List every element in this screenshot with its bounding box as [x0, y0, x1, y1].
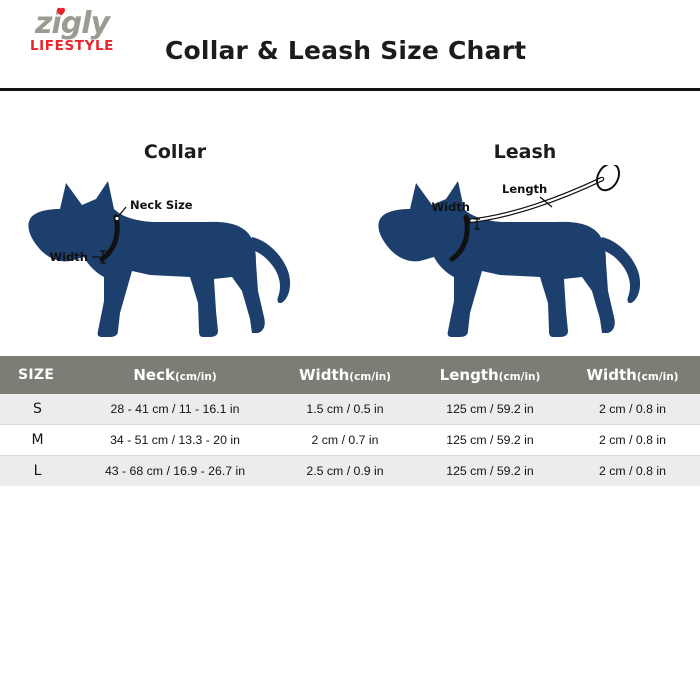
cell-leash-width: 2 cm / 0.8 in [565, 433, 700, 447]
brand-logo[interactable]: zigly LIFESTYLE [17, 8, 127, 54]
size-chart-table: SIZE Neck(cm/in) Width(cm/in) Length(cm/… [0, 356, 700, 486]
diagram-section: Collar Neck Size Width L [0, 91, 700, 356]
cell-neck: 43 - 68 cm / 16.9 - 26.7 in [75, 464, 275, 478]
cell-leash-length: 125 cm / 59.2 in [415, 464, 565, 478]
collar-diagram-panel: Collar Neck Size Width [0, 91, 350, 356]
column-header-size: SIZE [0, 367, 75, 383]
neck-size-anchor-dot [115, 216, 119, 220]
cell-collar-width: 1.5 cm / 0.5 in [275, 402, 415, 416]
cell-size: L [0, 463, 75, 479]
cell-leash-width: 2 cm / 0.8 in [565, 402, 700, 416]
column-header-leash-width-unit: (cm/in) [637, 371, 679, 383]
column-header-neck-unit: (cm/in) [175, 371, 217, 383]
cell-size: S [0, 401, 75, 417]
cell-neck: 34 - 51 cm / 13.3 - 20 in [75, 433, 275, 447]
collar-heading: Collar [0, 141, 350, 163]
collar-dog-illustration: Neck Size Width [0, 165, 350, 355]
cell-leash-width: 2 cm / 0.8 in [565, 464, 700, 478]
table-row: M 34 - 51 cm / 13.3 - 20 in 2 cm / 0.7 i… [0, 425, 700, 455]
neck-size-label: Neck Size [130, 198, 193, 212]
column-header-collar-width: Width(cm/in) [275, 366, 415, 384]
leash-dog-illustration: Width Length [350, 165, 700, 355]
column-header-neck: Neck(cm/in) [75, 366, 275, 384]
column-header-leash-width: Width(cm/in) [565, 366, 700, 384]
leash-handle-loop-icon [593, 165, 624, 194]
brand-name: zigly [17, 8, 127, 40]
heart-icon [55, 5, 67, 17]
leash-diagram-panel: Leash Width Length [350, 91, 700, 356]
cell-leash-length: 125 cm / 59.2 in [415, 402, 565, 416]
leash-clip-anchor-dot [465, 218, 470, 223]
collar-width-label: Width [49, 250, 88, 264]
column-header-leash-length-unit: (cm/in) [499, 371, 541, 383]
column-header-leash-length-label: Length [440, 366, 499, 384]
dog-silhouette-icon [378, 181, 640, 337]
leash-heading: Leash [350, 141, 700, 163]
table-row: L 43 - 68 cm / 16.9 - 26.7 in 2.5 cm / 0… [0, 456, 700, 486]
column-header-neck-label: Neck [133, 366, 175, 384]
leash-width-label: Width [431, 200, 470, 214]
page-header: zigly LIFESTYLE Collar & Leash Size Char… [0, 0, 700, 88]
cell-collar-width: 2 cm / 0.7 in [275, 433, 415, 447]
page-title: Collar & Leash Size Chart [165, 36, 526, 65]
column-header-leash-width-label: Width [587, 366, 637, 384]
table-header-row: SIZE Neck(cm/in) Width(cm/in) Length(cm/… [0, 356, 700, 394]
column-header-size-label: SIZE [18, 367, 54, 383]
leash-length-label: Length [502, 182, 547, 196]
cell-leash-length: 125 cm / 59.2 in [415, 433, 565, 447]
column-header-collar-width-unit: (cm/in) [349, 371, 391, 383]
cell-size: M [0, 432, 75, 448]
cell-collar-width: 2.5 cm / 0.9 in [275, 464, 415, 478]
column-header-collar-width-label: Width [299, 366, 349, 384]
cell-neck: 28 - 41 cm / 11 - 16.1 in [75, 402, 275, 416]
table-row: S 28 - 41 cm / 11 - 16.1 in 1.5 cm / 0.5… [0, 394, 700, 424]
column-header-leash-length: Length(cm/in) [415, 366, 565, 384]
